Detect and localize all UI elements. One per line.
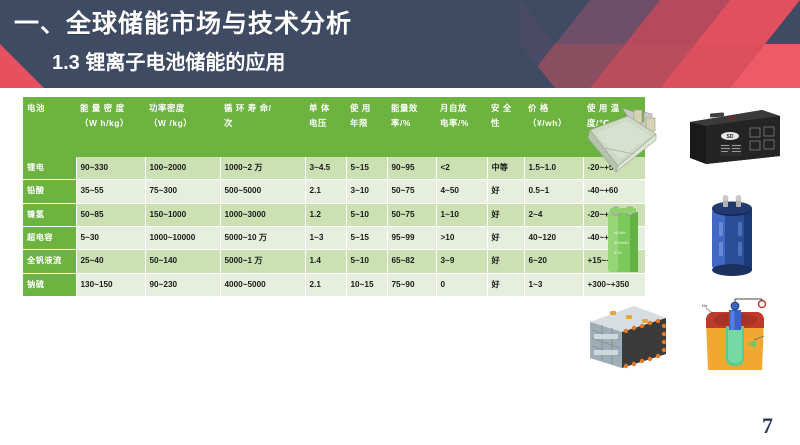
cell-energy-efficiency: 90~95: [387, 157, 436, 180]
table-header-row: 电池 能 量 密 度 （W h/kg） 功率密度 （W /kg） 循 环 寿 命…: [23, 97, 645, 157]
cell-energy-density: 35~55: [76, 180, 145, 203]
cell-energy-density: 50~85: [76, 203, 145, 226]
cell-price: 0.5~1: [524, 180, 583, 203]
col-header-line1: 循 环 寿 命/: [224, 101, 302, 116]
col-header-cell-voltage: 单 体 电压: [305, 97, 346, 157]
cell-power-density: 50~140: [145, 250, 220, 273]
col-header-price: 价 格 （¥/wh）: [524, 97, 583, 157]
cell-price: 1~3: [524, 273, 583, 296]
header-diamond-pattern: [520, 0, 800, 88]
col-header-self-discharge: 月自放 电率/%: [436, 97, 487, 157]
svg-text:SD: SD: [727, 134, 734, 140]
col-header-line1: 安 全: [491, 101, 521, 116]
cell-energy-efficiency: 50~75: [387, 203, 436, 226]
lithium-pouch-cell-image: [582, 104, 664, 176]
cell-cycle-life: 500~5000: [220, 180, 305, 203]
cell-service-life: 5~10: [346, 250, 387, 273]
cell-cycle-life: 5000~10 万: [220, 227, 305, 250]
svg-text:600mAh: 600mAh: [614, 240, 629, 245]
col-header-line1: 月自放: [440, 101, 484, 116]
cell-safety: 好: [487, 227, 524, 250]
cell-self-discharge: 0: [436, 273, 487, 296]
col-header-power-density: 功率密度 （W /kg）: [145, 97, 220, 157]
col-header-battery: 电池: [23, 97, 76, 157]
col-header-line2: 次: [224, 116, 302, 131]
cell-energy-density: 130~150: [76, 273, 145, 296]
nimh-battery-image: Ni-MH 600mAh 9.6V: [600, 200, 646, 276]
lead-acid-battery-image: SD: [684, 106, 784, 168]
header-banner: 一、全球储能市场与技术分析 1.3 锂离子电池储能的应用: [0, 0, 800, 88]
cell-battery-type: 钠硫: [23, 273, 76, 296]
cell-safety: 好: [487, 203, 524, 226]
cell-price: 2~4: [524, 203, 583, 226]
cell-battery-type: 铅酸: [23, 180, 76, 203]
cell-service-life: 5~10: [346, 203, 387, 226]
cell-safety: 中等: [487, 157, 524, 180]
col-header-line2: （¥/wh）: [528, 116, 580, 131]
table-row: 锂电90~330100~20001000~2 万3~4.55~1590~95<2…: [23, 157, 645, 180]
cell-power-density: 90~230: [145, 273, 220, 296]
cell-service-life: 3~10: [346, 180, 387, 203]
vanadium-flow-stack-image: [582, 300, 674, 374]
cell-cell-voltage: 2.1: [305, 180, 346, 203]
cell-service-life: 10~15: [346, 273, 387, 296]
cell-cycle-life: 4000~5000: [220, 273, 305, 296]
col-header-line1: 能量效: [391, 101, 433, 116]
cell-service-life: 5~15: [346, 227, 387, 250]
cell-self-discharge: >10: [436, 227, 487, 250]
cell-self-discharge: 3~9: [436, 250, 487, 273]
table-header: 电池 能 量 密 度 （W h/kg） 功率密度 （W /kg） 循 环 寿 命…: [23, 97, 645, 157]
col-header-line1: 电池: [27, 101, 73, 116]
page-subtitle: 1.3 锂离子电池储能的应用: [52, 46, 285, 75]
sodium-sulfur-battery-diagram: Na: [696, 296, 774, 378]
cell-cycle-life: 1000~2 万: [220, 157, 305, 180]
cell-cycle-life: 1000~3000: [220, 203, 305, 226]
svg-text:Na: Na: [702, 303, 708, 308]
table-row: 全钒液流25~4050~1405000~1 万1.45~1065~823~9好6…: [23, 250, 645, 273]
cell-power-density: 75~300: [145, 180, 220, 203]
svg-text:Ni-MH: Ni-MH: [614, 230, 625, 235]
col-header-line1: 单 体: [309, 101, 343, 116]
cell-self-discharge: 4~50: [436, 180, 487, 203]
table-row: 铅酸35~5575~300500~50002.13~1050~754~50好0.…: [23, 180, 645, 203]
cell-energy-efficiency: 50~75: [387, 180, 436, 203]
col-header-energy-density: 能 量 密 度 （W h/kg）: [76, 97, 145, 157]
col-header-service-life: 使 用 年限: [346, 97, 387, 157]
cell-price: 6~20: [524, 250, 583, 273]
table-body: 锂电90~330100~20001000~2 万3~4.55~1590~95<2…: [23, 157, 645, 297]
cell-energy-density: 90~330: [76, 157, 145, 180]
cell-cell-voltage: 2.1: [305, 273, 346, 296]
cell-power-density: 150~1000: [145, 203, 220, 226]
cell-cell-voltage: 1.4: [305, 250, 346, 273]
cell-price: 40~120: [524, 227, 583, 250]
cell-battery-type: 锂电: [23, 157, 76, 180]
cell-cell-voltage: 1~3: [305, 227, 346, 250]
cell-energy-efficiency: 65~82: [387, 250, 436, 273]
col-header-line2: 率/%: [391, 116, 433, 131]
col-header-safety: 安 全 性: [487, 97, 524, 157]
col-header-line1: 能 量 密 度: [80, 101, 142, 116]
page-title: 一、全球储能市场与技术分析: [14, 4, 352, 40]
cell-safety: 好: [487, 250, 524, 273]
cell-battery-type: 超电容: [23, 227, 76, 250]
col-header-line2: （W h/kg）: [80, 116, 142, 131]
cell-cell-voltage: 3~4.5: [305, 157, 346, 180]
table-row: 镍氢50~85150~10001000~30001.25~1050~751~10…: [23, 203, 645, 226]
col-header-line1: 功率密度: [149, 101, 217, 116]
col-header-line1: 价 格: [528, 101, 580, 116]
svg-text:9.6V: 9.6V: [614, 250, 623, 255]
supercapacitor-image: [706, 194, 758, 278]
table-row: 钠硫130~15090~2304000~50002.110~1575~900好1…: [23, 273, 645, 296]
cell-self-discharge: 1~10: [436, 203, 487, 226]
cell-battery-type: 镍氢: [23, 203, 76, 226]
cell-cell-voltage: 1.2: [305, 203, 346, 226]
cell-energy-efficiency: 95~99: [387, 227, 436, 250]
cell-battery-type: 全钒液流: [23, 250, 76, 273]
cell-energy-density: 25~40: [76, 250, 145, 273]
page-number: 7: [762, 413, 773, 439]
cell-price: 1.5~1.0: [524, 157, 583, 180]
col-header-energy-efficiency: 能量效 率/%: [387, 97, 436, 157]
cell-safety: 好: [487, 180, 524, 203]
cell-service-life: 5~15: [346, 157, 387, 180]
table-row: 超电容5~301000~100005000~10 万1~35~1595~99>1…: [23, 227, 645, 250]
cell-energy-density: 5~30: [76, 227, 145, 250]
col-header-line2: （W /kg）: [149, 116, 217, 131]
cell-power-density: 1000~10000: [145, 227, 220, 250]
col-header-line2: 电率/%: [440, 116, 484, 131]
cell-cycle-life: 5000~1 万: [220, 250, 305, 273]
col-header-line2: 性: [491, 116, 521, 131]
cell-safety: 好: [487, 273, 524, 296]
col-header-line2: 年限: [350, 116, 384, 131]
battery-comparison-table: 电池 能 量 密 度 （W h/kg） 功率密度 （W /kg） 循 环 寿 命…: [23, 97, 645, 297]
cell-power-density: 100~2000: [145, 157, 220, 180]
battery-image-gallery: SD Ni-MH 600mAh 9.6V: [578, 98, 792, 394]
col-header-line1: 使 用: [350, 101, 384, 116]
col-header-line2: 电压: [309, 116, 343, 131]
cell-energy-efficiency: 75~90: [387, 273, 436, 296]
col-header-cycle-life: 循 环 寿 命/ 次: [220, 97, 305, 157]
cell-self-discharge: <2: [436, 157, 487, 180]
